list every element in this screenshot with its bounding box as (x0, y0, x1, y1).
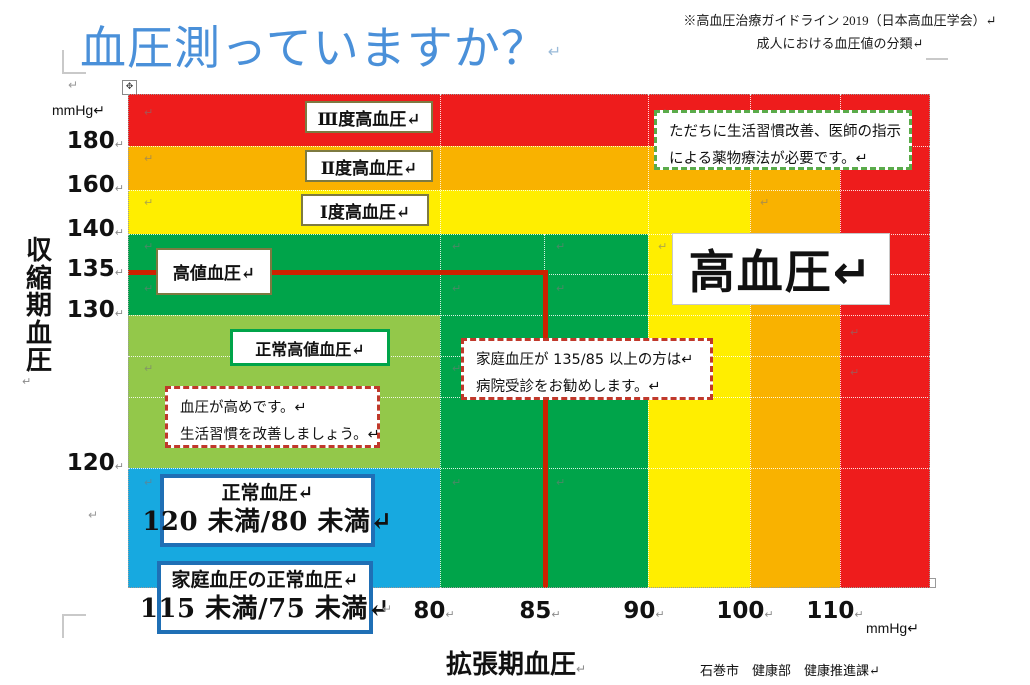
x-axis-title: 拡張期血圧↵ (446, 644, 586, 681)
pilcrow-mark: ↵ (88, 508, 98, 522)
x-axis-title-text: 拡張期血圧 (446, 650, 576, 680)
page-title: 血圧測っていますか？↵ (80, 12, 562, 78)
gridline-vertical (440, 94, 441, 588)
label-grade2-text: Ⅱ度高血圧↵ (321, 154, 418, 179)
pilcrow-mark: ↵ (850, 366, 859, 379)
pilcrow-mark: ↵ (452, 240, 461, 253)
label-grade2: Ⅱ度高血圧↵ (305, 150, 433, 182)
band-grade1 (128, 190, 750, 234)
band-grade2-col100c (750, 315, 840, 468)
gridline-horizontal (128, 468, 930, 469)
pilcrow-mark: ↵ (144, 362, 153, 375)
pilcrow-mark: ↵ (115, 138, 124, 151)
label-home-normal-bp: 家庭血圧の正常血圧↵ 115 未満/75 未満↵ (157, 561, 373, 634)
pilcrow-mark: ↵ (655, 608, 664, 621)
y-tick-120: 120↵ (40, 450, 124, 476)
callout-home-bp: 家庭血圧が 135/85 以上の方は↵ 病院受診をお勧めします。↵ (461, 338, 713, 400)
pilcrow-mark: ↵ (576, 662, 586, 676)
x-axis-unit-label: mmHg↵ (866, 620, 919, 637)
callout-lifestyle-line1: 血圧が高めです。↵ (180, 395, 365, 422)
y-tick-value: 140 (67, 216, 115, 242)
pilcrow-mark: ↵ (658, 240, 667, 253)
source-note-line1: ※高血圧治療ガイドライン 2019（日本高血圧学会）↵ (660, 10, 1020, 33)
y-tick-value: 135 (67, 256, 115, 282)
pilcrow-mark: ↵ (556, 240, 565, 253)
gridline-horizontal (128, 190, 930, 191)
label-normal-high-text: 正常高値血圧↵ (255, 336, 364, 360)
x-tick-90: 90↵ (604, 598, 684, 624)
pilcrow-mark: ↵ (760, 196, 769, 209)
y-tick-135: 135↵ (40, 256, 124, 282)
label-normal-bp-title: 正常血圧↵ (222, 482, 314, 506)
move-handle[interactable]: ✥ (122, 80, 137, 95)
callout-urgent-line2: による薬物療法が必要です。↵ (669, 146, 897, 173)
y-tick-130: 130↵ (40, 297, 124, 323)
pilcrow-mark: ↵ (850, 326, 859, 339)
pilcrow-mark: ↵ (115, 266, 124, 279)
pilcrow-mark: ↵ (144, 152, 153, 165)
y-tick-180: 180↵ (40, 128, 124, 154)
pilcrow-mark: ↵ (115, 226, 124, 239)
pilcrow-mark: ↵ (551, 608, 560, 621)
y-tick-140: 140↵ (40, 216, 124, 242)
plot-border-right (929, 94, 930, 588)
source-note: ※高血圧治療ガイドライン 2019（日本高血圧学会）↵ 成人における血圧値の分類… (660, 10, 1020, 56)
footer-credit: 石巻市 健康部 健康推進課↵ (700, 660, 880, 679)
pilcrow-mark: ↵ (115, 182, 124, 195)
crop-mark-top-right (926, 58, 948, 74)
callout-urgent-treatment: ただちに生活習慣改善、医師の指示 による薬物療法が必要です。↵ (654, 110, 912, 170)
callout-urgent-line1: ただちに生活習慣改善、医師の指示 (669, 119, 897, 146)
label-normal-high: 正常高値血圧↵ (230, 329, 390, 366)
pilcrow-mark: ↵ (556, 282, 565, 295)
plot-border-left (128, 94, 129, 588)
pilcrow-mark: ↵ (854, 608, 863, 621)
pilcrow-mark: ↵ (445, 608, 454, 621)
label-high-value-text: 高値血圧↵ (173, 259, 255, 284)
label-high-value: 高値血圧↵ (156, 248, 272, 295)
pilcrow-mark: ↵ (144, 196, 153, 209)
label-home-normal-bp-value: 115 未満/75 未満↵ (140, 593, 390, 626)
x-tick-100: 100↵ (700, 598, 790, 624)
plot-border-top (128, 94, 930, 95)
y-tick-value: 160 (67, 172, 115, 198)
pilcrow-mark: ↵ (452, 282, 461, 295)
y-tick-value: 120 (67, 450, 115, 476)
label-grade3: Ⅲ度高血圧↵ (305, 101, 433, 133)
label-hypertension-big-text: 高血圧↵ (689, 236, 874, 302)
pilcrow-mark: ↵ (144, 240, 153, 253)
pilcrow-mark: ↵ (452, 476, 461, 489)
label-hypertension-big: 高血圧↵ (672, 233, 890, 305)
y-tick-value: 130 (67, 297, 115, 323)
pilcrow-mark: ↵ (115, 460, 124, 473)
y-tick-160: 160↵ (40, 172, 124, 198)
source-note-line2: 成人における血圧値の分類↵ (660, 33, 1020, 56)
gridline-horizontal (128, 315, 930, 316)
pilcrow-mark: ↵ (144, 476, 153, 489)
pilcrow-mark: ↵ (548, 44, 562, 61)
pilcrow-mark: ↵ (382, 602, 392, 616)
band-grade3-col110e (840, 468, 930, 588)
pilcrow-mark: ↵ (144, 106, 153, 119)
pilcrow-mark: ↵ (144, 282, 153, 295)
reference-line-dbp-85 (543, 270, 548, 588)
page-title-text: 血圧測っていますか？ (80, 22, 548, 74)
y-tick-value: 180 (67, 128, 115, 154)
callout-home-bp-line1: 家庭血圧が 135/85 以上の方は↵ (476, 347, 698, 374)
pilcrow-mark: ↵ (68, 78, 78, 92)
band-grade2-col100d (750, 468, 840, 588)
x-tick-value: 100 (716, 598, 764, 624)
x-tick-value: 80 (413, 598, 445, 624)
x-tick-80: 80↵ (394, 598, 474, 624)
callout-home-bp-line2: 病院受診をお勧めします。↵ (476, 374, 698, 401)
label-grade1-text: Ⅰ度高血圧↵ (320, 198, 410, 223)
callout-lifestyle-line2: 生活習慣を改善しましょう。↵ (180, 422, 365, 449)
label-grade1: Ⅰ度高血圧↵ (301, 194, 429, 226)
x-tick-value: 110 (806, 598, 854, 624)
label-grade3-text: Ⅲ度高血圧↵ (318, 105, 421, 130)
callout-lifestyle: 血圧が高めです。↵ 生活習慣を改善しましょう。↵ (165, 386, 380, 448)
label-home-normal-bp-title: 家庭血圧の正常血圧↵ (172, 569, 359, 593)
pilcrow-mark: ↵ (556, 476, 565, 489)
x-tick-85: 85↵ (500, 598, 580, 624)
label-normal-bp: 正常血圧↵ 120 未満/80 未満↵ (160, 474, 375, 547)
band-grade1-col90c (648, 468, 750, 588)
pilcrow-mark: ↵ (764, 608, 773, 621)
x-tick-value: 85 (519, 598, 551, 624)
pilcrow-mark: ↵ (452, 362, 461, 375)
x-tick-value: 90 (623, 598, 655, 624)
label-normal-bp-value: 120 未満/80 未満↵ (142, 506, 392, 539)
pilcrow-mark: ↵ (115, 307, 124, 320)
band-grade3-col110b (840, 190, 930, 234)
y-axis-ticks: 180↵ 160↵ 140↵ 135↵ 130↵ 120↵ (40, 0, 124, 685)
